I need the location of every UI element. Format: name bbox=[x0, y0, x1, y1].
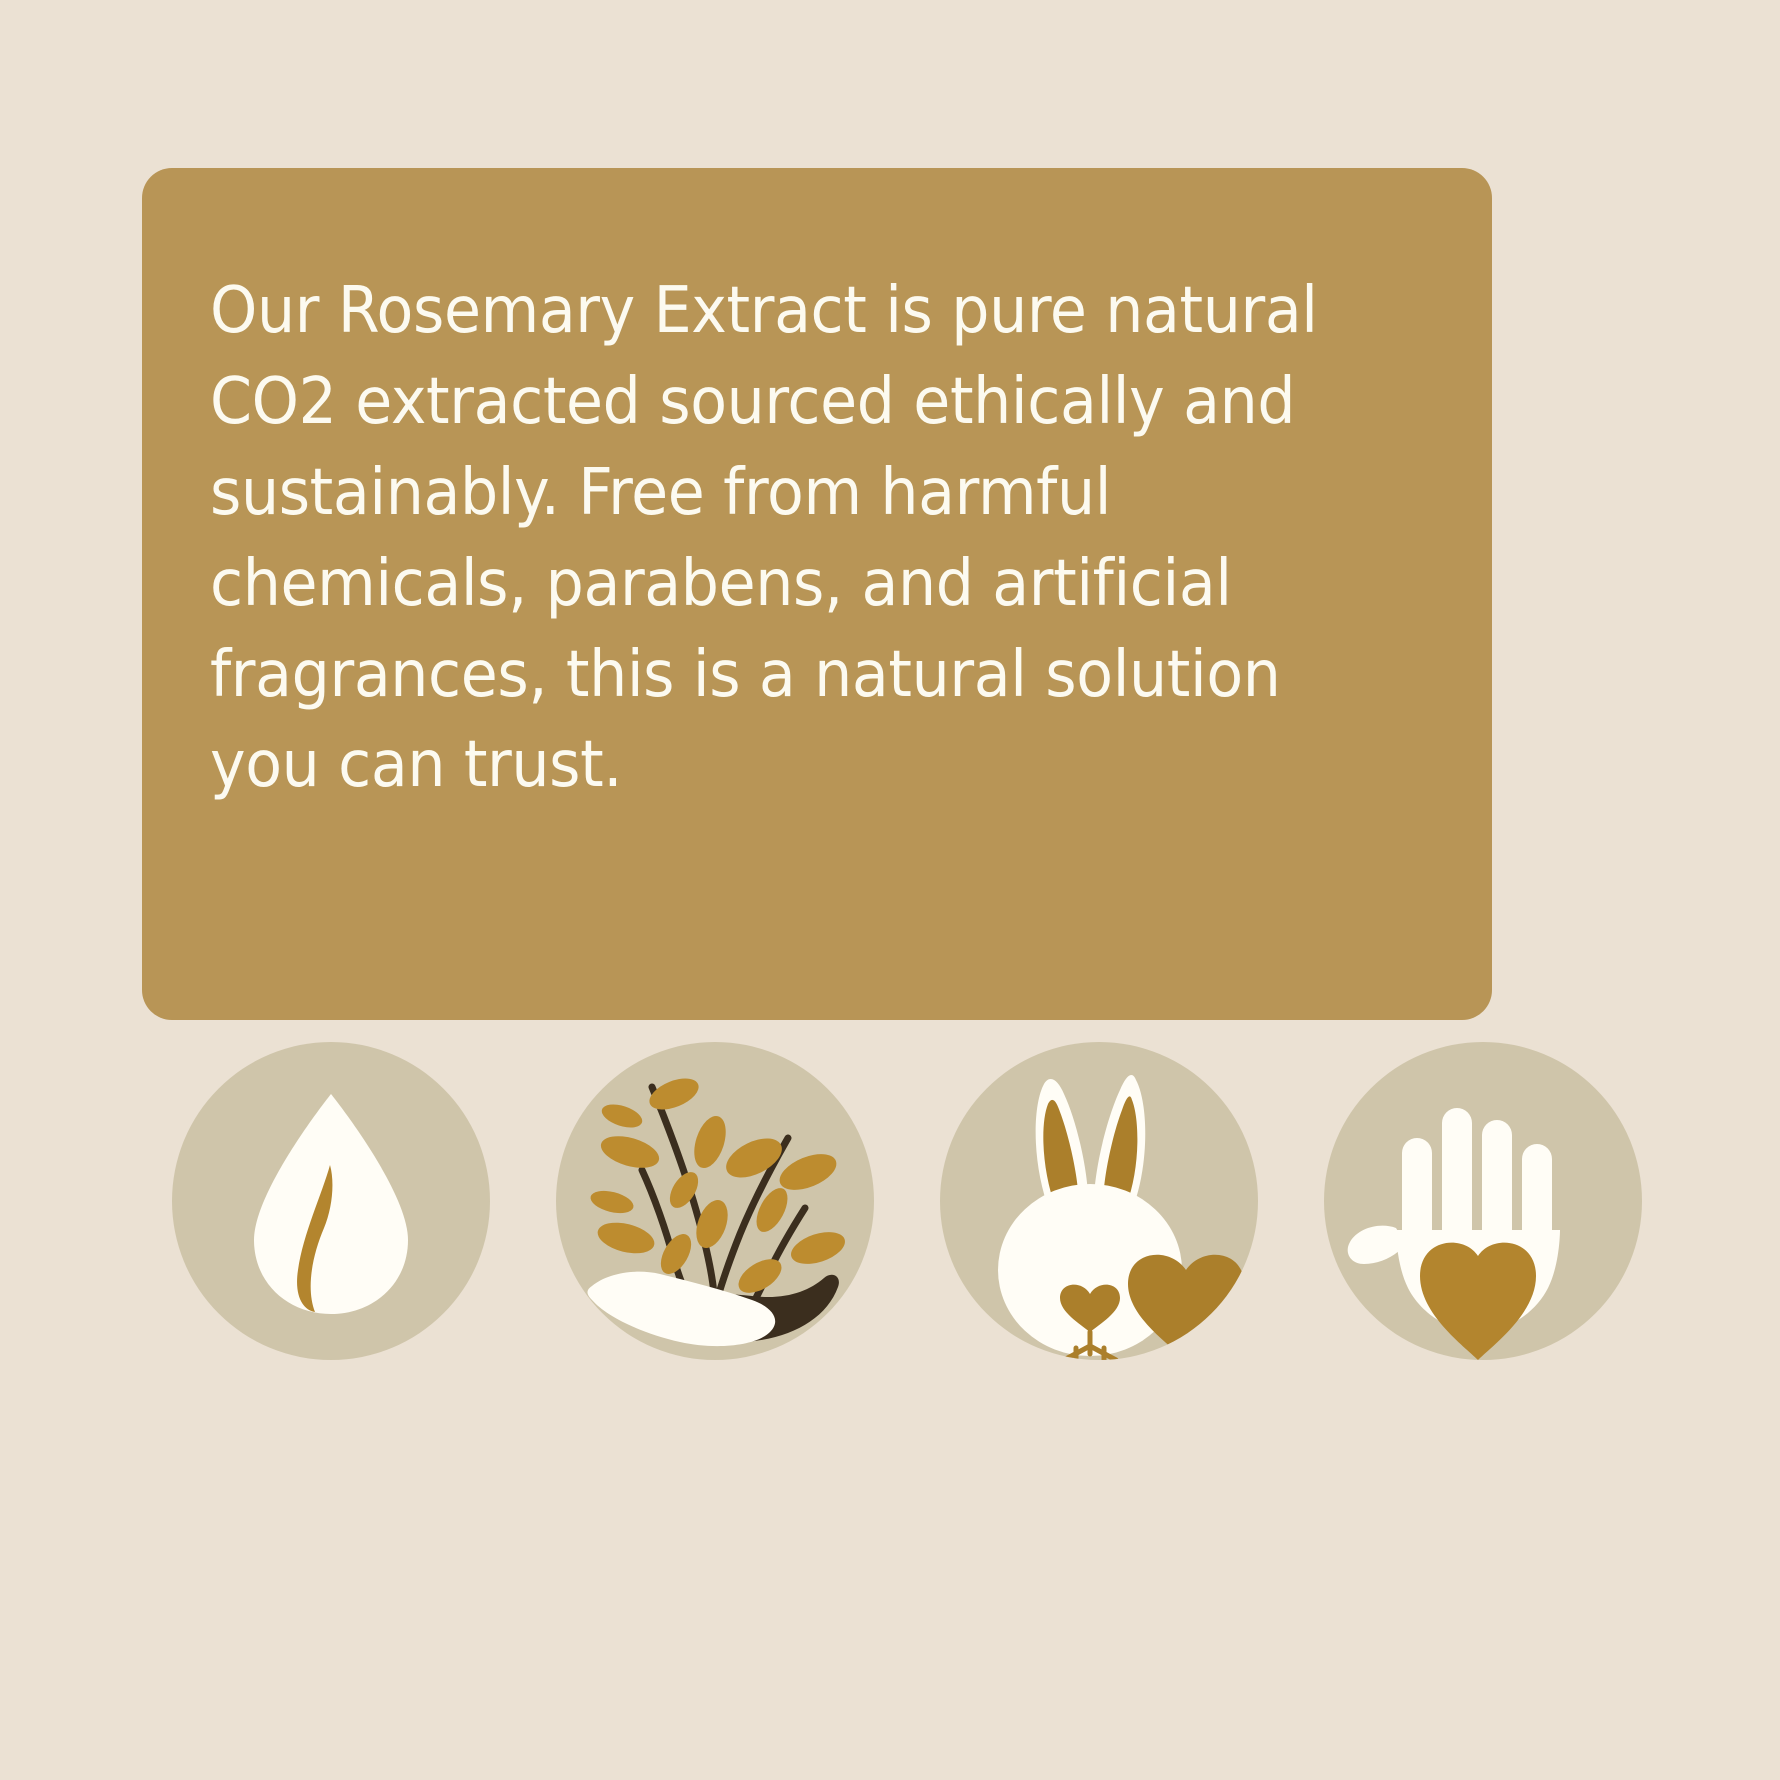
hand-heart-icon bbox=[1324, 1042, 1642, 1360]
badge-circle bbox=[172, 1042, 490, 1360]
trust-badge-row bbox=[150, 1042, 1640, 1382]
bunny-heart-icon bbox=[940, 1042, 1258, 1360]
badge-circle bbox=[1324, 1042, 1642, 1360]
badge-sustainably-sourced[interactable] bbox=[534, 1042, 874, 1382]
badge-ethically-made[interactable] bbox=[1302, 1042, 1642, 1382]
poster-canvas: Our Rosemary Extract is pure natural CO2… bbox=[0, 0, 1780, 1780]
badge-pure-extract[interactable] bbox=[150, 1042, 490, 1382]
badge-circle bbox=[556, 1042, 874, 1360]
badge-circle bbox=[940, 1042, 1258, 1360]
statement-card: Our Rosemary Extract is pure natural CO2… bbox=[142, 168, 1492, 1020]
plant-in-hand-icon bbox=[556, 1042, 874, 1360]
badge-cruelty-free[interactable] bbox=[918, 1042, 1258, 1382]
water-drop-icon bbox=[172, 1042, 490, 1360]
statement-text: Our Rosemary Extract is pure natural CO2… bbox=[210, 266, 1357, 811]
